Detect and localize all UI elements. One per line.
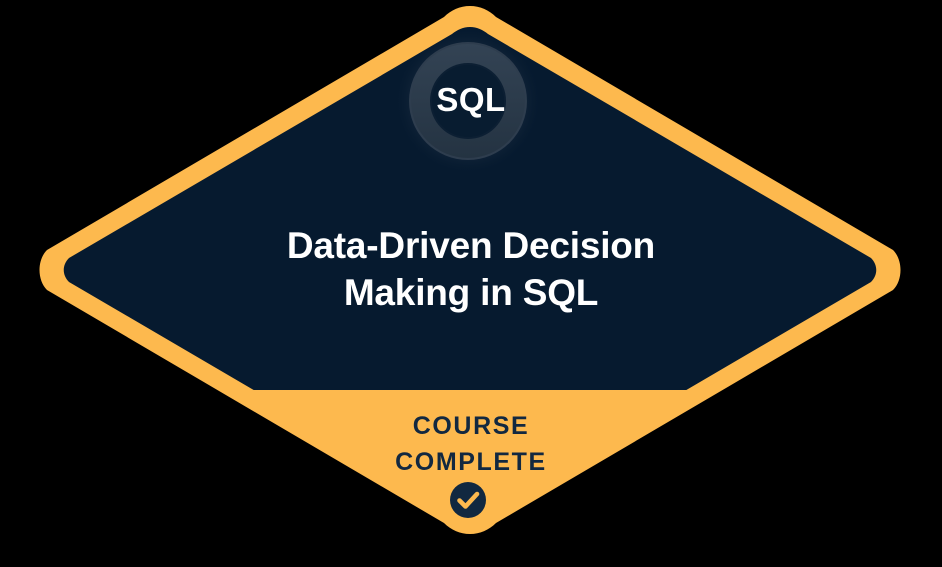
check-mark-icon <box>450 482 486 518</box>
badge-graphic <box>0 0 942 567</box>
badge-canvas: SQL Data-Driven Decision Making in SQL C… <box>0 0 942 567</box>
